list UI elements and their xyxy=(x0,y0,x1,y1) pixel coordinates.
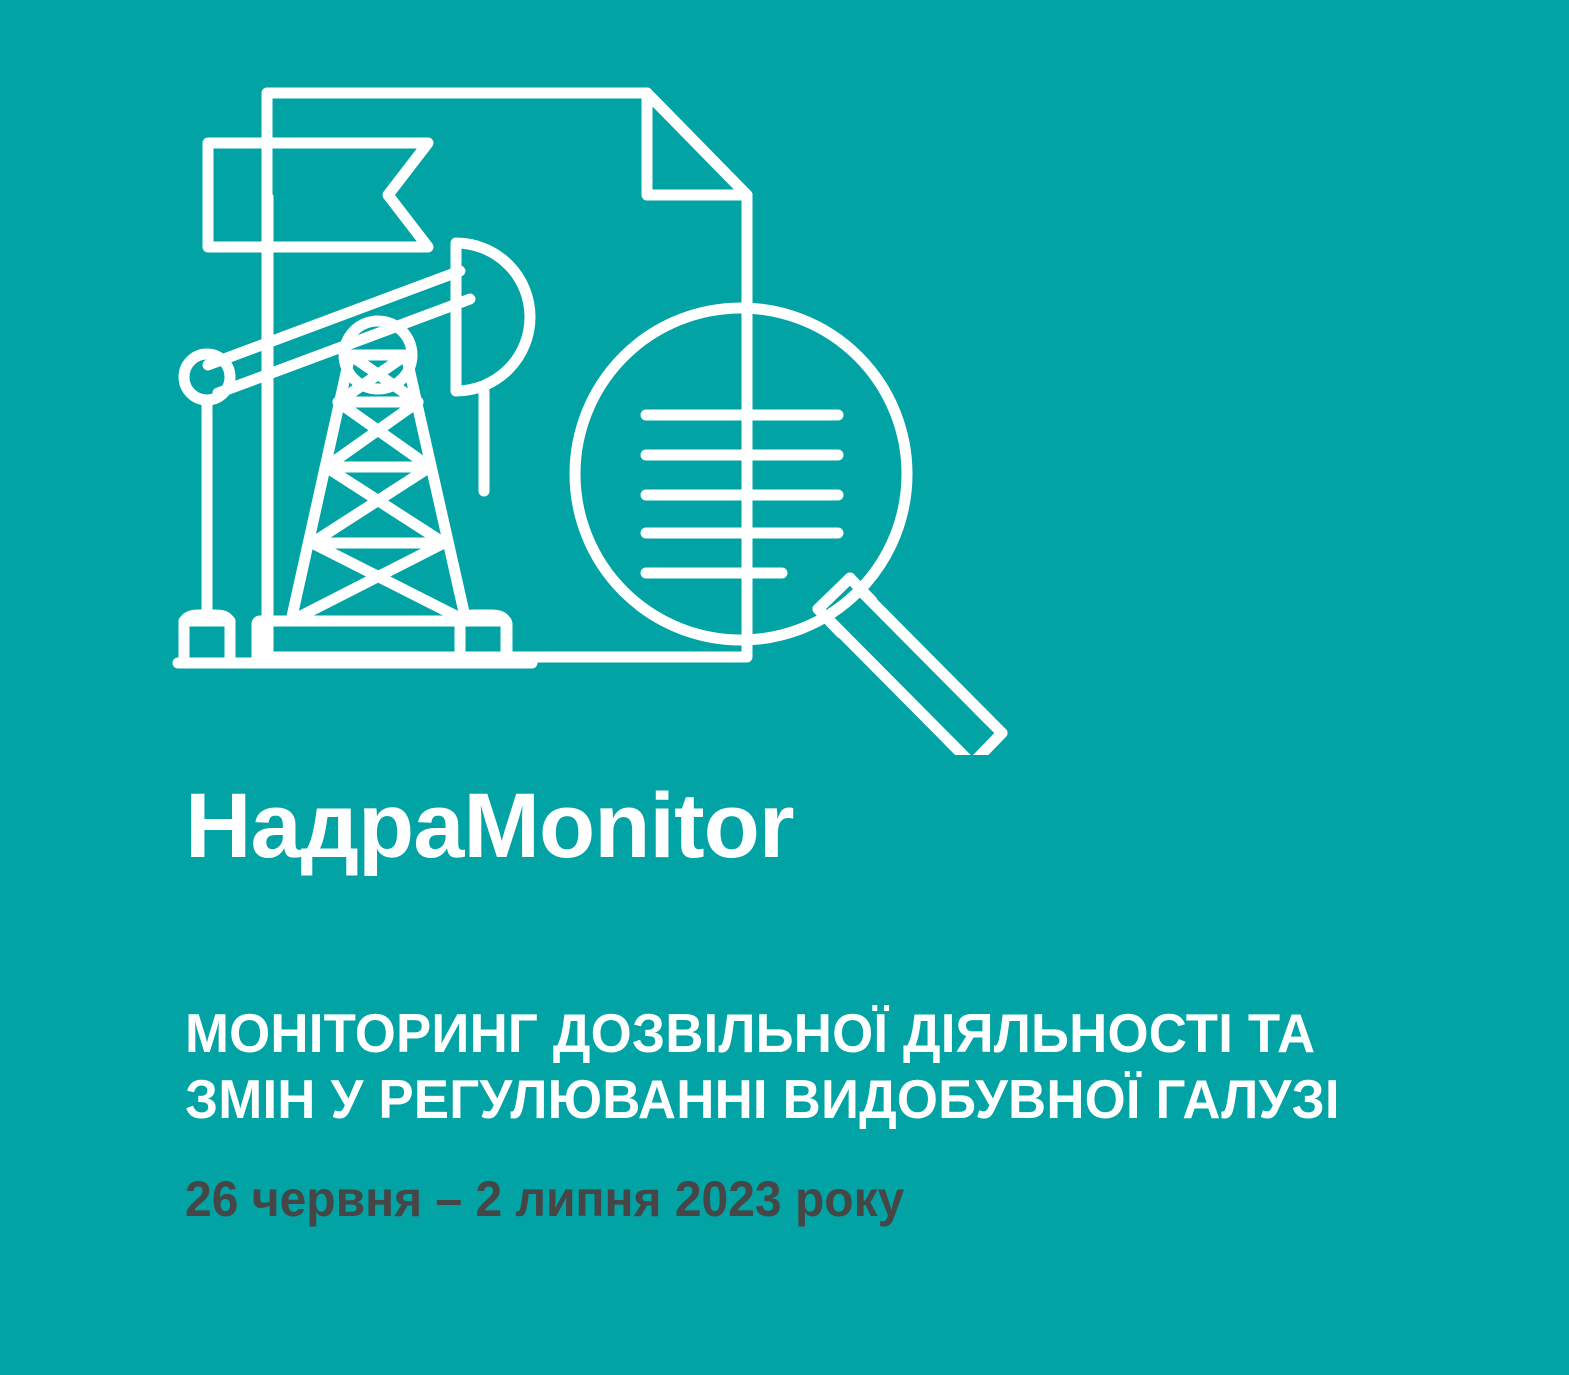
headline: МОНІТОРИНГ ДОЗВІЛЬНОЇ ДІЯЛЬНОСТІ ТА ЗМІН… xyxy=(185,874,1462,1132)
pumpjack-walking-beam-icon xyxy=(208,271,470,393)
pumpjack-tail-bearing-icon xyxy=(184,354,230,615)
nadramonitor-logo xyxy=(160,55,1040,755)
brand-title: НадраMonitor xyxy=(185,780,1515,874)
date-range: 26 червня – 2 липня 2023 року xyxy=(185,1132,1462,1227)
cover-slide: НадраMonitor МОНІТОРИНГ ДОЗВІЛЬНОЇ ДІЯЛЬ… xyxy=(0,0,1569,1375)
pumpjack-derrick-icon xyxy=(291,355,466,621)
cover-text-block: НадраMonitor МОНІТОРИНГ ДОЗВІЛЬНОЇ ДІЯЛЬ… xyxy=(185,780,1515,1227)
pumpjack-horsehead-icon xyxy=(456,243,530,491)
headline-line-2: ЗМІН У РЕГУЛЮВАННІ ВИДОБУВНОЇ ГАЛУЗІ xyxy=(185,1066,1462,1132)
headline-line-1: МОНІТОРИНГ ДОЗВІЛЬНОЇ ДІЯЛЬНОСТІ ТА xyxy=(185,1000,1462,1066)
magnifier-icon xyxy=(575,308,1002,755)
